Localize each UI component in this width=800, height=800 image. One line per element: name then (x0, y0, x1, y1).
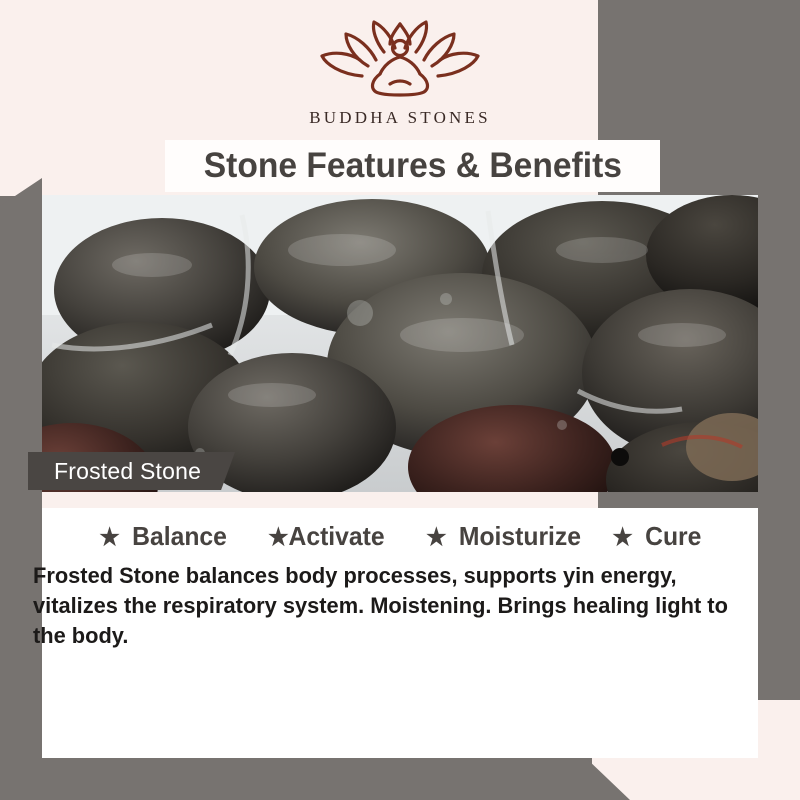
stone-description: Frosted Stone balances body processes, s… (33, 561, 747, 651)
benefit-label-1: Activate (288, 521, 384, 551)
benefit-item-2: ★Moisturize (427, 521, 582, 552)
star-icon: ★ (613, 524, 633, 551)
star-icon: ★ (99, 524, 119, 551)
frosted-stones-photo (42, 195, 758, 492)
stone-label-text: Frosted Stone (54, 458, 201, 485)
brand-logo: BUDDHA STONES (0, 18, 800, 128)
benefit-item-0: ★Balance (99, 521, 227, 552)
benefit-label-0: Balance (132, 521, 227, 551)
benefit-label-3: Cure (646, 521, 702, 551)
benefit-item-1: ★Activate (268, 521, 385, 552)
benefit-item-3: ★Cure (613, 521, 702, 552)
frame-band-left (0, 196, 42, 800)
brand-name: BUDDHA STONES (0, 108, 800, 128)
stone-label-badge: Frosted Stone (28, 452, 235, 490)
stone-benefits-poster: BUDDHA STONES Stone Features & Benefits (0, 0, 800, 800)
title-banner: Stone Features & Benefits (165, 140, 660, 192)
star-icon: ★ (427, 524, 447, 551)
benefits-row: ★Balance ★Activate ★Moisturize ★Cure (0, 521, 800, 552)
benefit-label-2: Moisturize (459, 521, 581, 551)
frame-band-bottom (0, 758, 592, 800)
page-title: Stone Features & Benefits (203, 146, 621, 186)
frame-corner-left-diagonal (0, 178, 42, 206)
stones-illustration (42, 195, 758, 492)
lotus-meditation-figure-icon (310, 18, 490, 104)
star-icon: ★ (268, 524, 288, 551)
frame-corner-bottom-diagonal (586, 758, 630, 800)
